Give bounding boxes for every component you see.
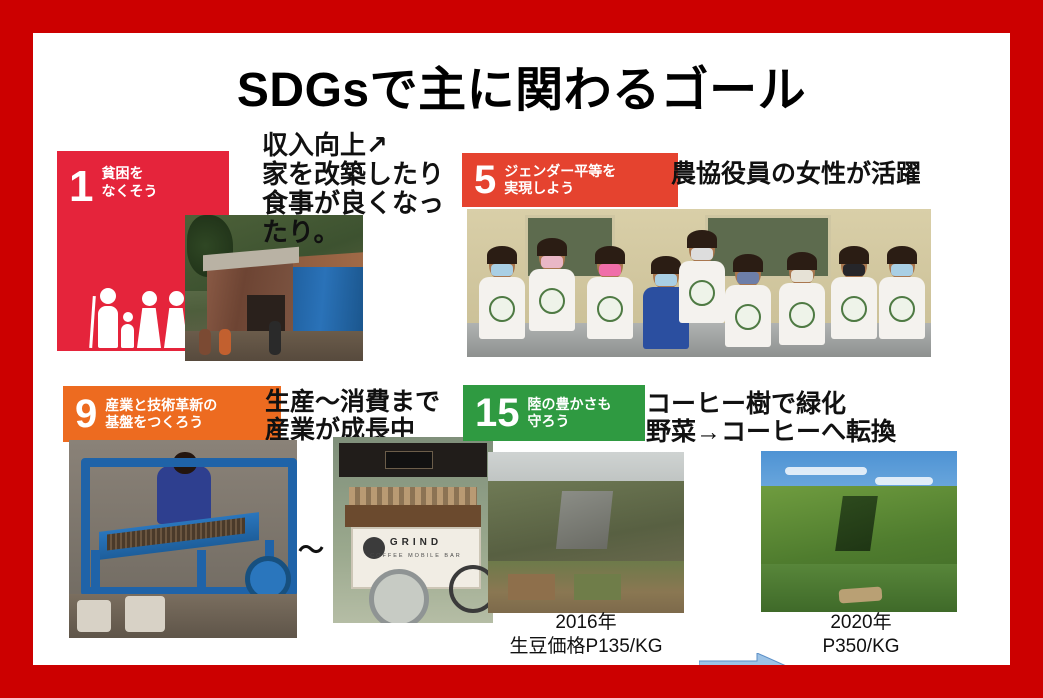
photo-plot-1 [508, 574, 555, 600]
slide-red-frame: SDGsで主に関わるゴール 1 貧困を なくそう [0, 0, 1043, 698]
sdg-badge-5-label: ジェンダー平等を 実現しよう [504, 163, 616, 198]
photo-person-6 [725, 258, 771, 347]
body-shape [121, 324, 134, 348]
face-mask [491, 264, 513, 276]
hair [595, 246, 625, 264]
photo-figure-2 [219, 329, 231, 355]
photo-person-9 [879, 250, 925, 339]
sdg-badge-15: 15 陸の豊かさも 守ろう [463, 385, 645, 441]
photo-cloud-2 [875, 477, 934, 485]
face-mask [691, 248, 713, 260]
photo-person-5 [679, 234, 725, 323]
shirt-logo [539, 288, 565, 314]
head-shape [142, 291, 157, 306]
shirt-logo [689, 280, 715, 306]
hair [887, 246, 917, 264]
photo-cart-wheel [369, 569, 429, 623]
face-mask [891, 264, 913, 276]
photo-landscape-2016 [488, 452, 684, 613]
face-mask [541, 256, 563, 268]
photo-person-1 [479, 250, 525, 339]
shirt-logo [735, 304, 761, 330]
cane-icon [89, 296, 96, 348]
shirt-logo [889, 296, 915, 322]
annotation-tilde: 〜 [298, 530, 324, 567]
sdg-badge-1-label: 貧困を なくそう [101, 165, 157, 200]
photo-bicycle-wheel [449, 565, 493, 613]
pictogram-woman [137, 291, 161, 348]
caption-after: 2020年 P350/KG [769, 611, 953, 659]
photo-person-7 [779, 256, 825, 345]
annotation-greening: コーヒー樹で緑化 野菜→コーヒーへ転換 [646, 390, 896, 446]
head-shape [123, 312, 133, 322]
hair [839, 246, 869, 264]
shirt-logo [841, 296, 867, 322]
annotation-industry: 生産〜消費まで 産業が成長中 [265, 388, 440, 444]
page-title: SDGsで主に関わるゴール [33, 50, 1010, 120]
hair [733, 254, 763, 272]
slide-canvas: SDGsで主に関わるゴール 1 貧困を なくそう [33, 33, 1010, 665]
face-mask [655, 274, 677, 286]
hair [487, 246, 517, 264]
shirt-logo [789, 302, 815, 328]
photo-coffee-cart: GRIND COFFEE MOBILE BAR [333, 437, 493, 623]
sdg-badge-15-number: 15 [463, 393, 528, 433]
photo-person-8 [831, 250, 877, 339]
face-mask [843, 264, 865, 276]
hair [651, 256, 681, 274]
face-mask [599, 264, 621, 276]
photo-landscape-2020 [761, 451, 957, 612]
photo-shelf [345, 505, 481, 527]
cart-brand-text: GRIND [353, 537, 479, 548]
face-mask [737, 272, 759, 284]
photo-coffee-sorting-machine [69, 440, 297, 638]
sdg-badge-5: 5 ジェンダー平等を 実現しよう [462, 153, 678, 207]
photo-rock-face [556, 491, 613, 549]
photo-person-3 [587, 250, 633, 339]
pictogram-child [121, 312, 134, 348]
shirt-logo [489, 296, 515, 322]
body-shape [137, 308, 161, 348]
sdg-badge-9-label: 産業と技術革新の 基盤をつくろう [105, 397, 217, 432]
sdg-badge-1-number: 1 [57, 165, 101, 209]
photo-hanging-sign [385, 451, 433, 469]
photo-plot-2 [574, 574, 621, 600]
body-shape [98, 306, 118, 348]
photo-jars [349, 487, 477, 507]
annotation-income: 収入向上↗ 家を改築したり 食事が良くなっ たり。 [262, 131, 444, 247]
photo-person-2 [529, 242, 575, 331]
head-shape [100, 288, 116, 304]
head-shape [169, 291, 184, 306]
cart-subtitle-text: COFFEE MOBILE BAR [353, 553, 479, 559]
sdg-badge-15-label: 陸の豊かさも 守ろう [528, 396, 612, 431]
face-mask [791, 270, 813, 282]
photo-women-group [467, 209, 931, 357]
photo-cloud-1 [785, 467, 867, 475]
shirt-logo [597, 296, 623, 322]
sdg-badge-5-number: 5 [462, 160, 504, 200]
photo-figure-1 [199, 329, 211, 355]
photo-sack-1 [77, 600, 111, 632]
sdg-badge-9: 9 産業と技術革新の 基盤をつくろう [63, 386, 281, 442]
photo-sack-2 [125, 596, 165, 632]
hair [687, 230, 717, 248]
photo-figure-3 [269, 321, 281, 355]
annotation-women-leaders: 農協役員の女性が活躍 [671, 160, 921, 188]
hair [787, 252, 817, 270]
hair [537, 238, 567, 256]
caption-before: 2016年 生豆価格P135/KG [479, 611, 693, 659]
sdg-badge-9-number: 9 [63, 394, 105, 434]
pictogram-adult-with-cane [98, 288, 118, 348]
